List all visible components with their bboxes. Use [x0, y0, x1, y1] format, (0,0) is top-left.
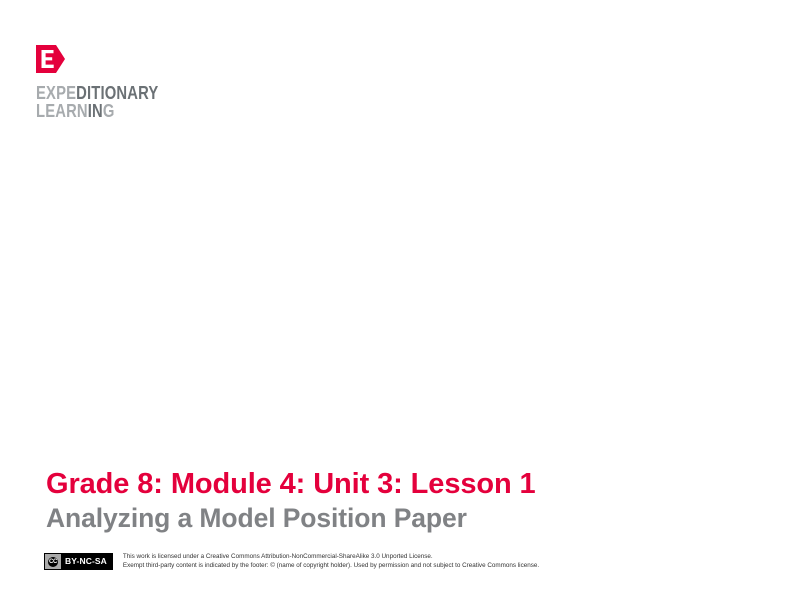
- license-line-1: This work is licensed under a Creative C…: [123, 553, 539, 562]
- cc-circle-icon: CC: [48, 557, 58, 567]
- creative-commons-badge-icon[interactable]: CC BY-NC-SA: [44, 553, 113, 570]
- wordmark-in: IN: [88, 100, 103, 121]
- presentation-slide: EXPEDITIONARY LEARNING Grade 8: Module 4…: [0, 0, 797, 604]
- license-text: This work is licensed under a Creative C…: [123, 553, 539, 570]
- wordmark-g: G: [103, 100, 115, 121]
- title-area: Grade 8: Module 4: Unit 3: Lesson 1 Anal…: [46, 468, 746, 534]
- expeditionary-learning-pennant-logo-icon: [36, 45, 65, 73]
- wordmark-learn: LEARN: [36, 100, 88, 121]
- brand-wordmark: EXPEDITIONARY LEARNING: [36, 84, 196, 120]
- page-title: Grade 8: Module 4: Unit 3: Lesson 1: [46, 468, 746, 501]
- cc-mark-section: CC: [45, 554, 61, 569]
- page-subtitle: Analyzing a Model Position Paper: [46, 503, 746, 534]
- brand-logo-block: EXPEDITIONARY LEARNING: [36, 45, 236, 120]
- cc-license-codes: BY-NC-SA: [61, 554, 112, 569]
- license-line-2: Exempt third-party content is indicated …: [123, 562, 539, 571]
- wordmark-line-2: LEARNING: [36, 102, 196, 120]
- license-footer: CC BY-NC-SA This work is licensed under …: [44, 553, 539, 570]
